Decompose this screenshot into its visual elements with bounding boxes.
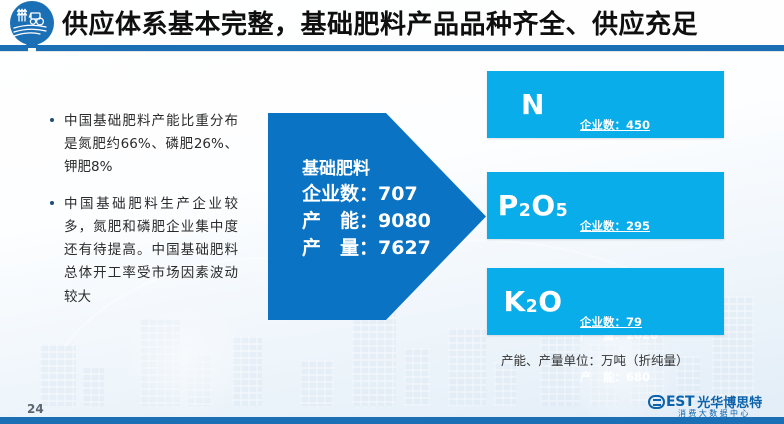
list-item: 中国基础肥料产能比重分布是氮肥约66%、磷肥26%、钾肥8% bbox=[48, 110, 238, 180]
best-logo-icon bbox=[648, 395, 665, 409]
arrow-output: 产 量：7627 bbox=[302, 235, 431, 262]
nutrient-card-n[interactable]: N 企业数：450 产 能：6050 产 量：4944 bbox=[487, 71, 724, 138]
brand-watermark: EST 光华博思特 消费大数据中心 bbox=[648, 392, 776, 418]
card-capacity: 产 能：680 bbox=[580, 368, 650, 386]
arrow-enterprises: 企业数：707 bbox=[302, 181, 431, 208]
header-divider-shadow bbox=[0, 51, 784, 52]
footer-bar bbox=[0, 417, 784, 424]
footnote: 产能、产量单位：万吨（折纯量） bbox=[501, 350, 689, 369]
page-title: 供应体系基本完整，基础肥料产品品种齐全、供应充足 bbox=[62, 4, 698, 41]
slide-header: 供应体系基本完整，基础肥料产品品种齐全、供应充足 bbox=[0, 0, 784, 50]
formula-label: N bbox=[487, 71, 579, 138]
list-item: 中国基础肥料生产企业较多，氮肥和磷肥企业集中度还有待提高。中国基础肥料总体开工率… bbox=[48, 193, 238, 309]
arrow-capacity: 产 能：9080 bbox=[302, 208, 431, 235]
summary-arrow: 基础肥料 企业数：707 产 能：9080 产 量：7627 bbox=[268, 113, 486, 320]
arrow-title: 基础肥料 bbox=[302, 158, 431, 181]
formula-label: K2O bbox=[487, 268, 579, 335]
nutrient-card-k2o[interactable]: K2O 企业数：79 产 能：680 产 量：612 bbox=[487, 268, 724, 335]
formula-label: P2O5 bbox=[487, 172, 579, 239]
arrow-text-block: 基础肥料 企业数：707 产 能：9080 产 量：7627 bbox=[302, 158, 431, 262]
card-enterprises: 企业数：450 bbox=[580, 116, 658, 134]
slide: 供应体系基本完整，基础肥料产品品种齐全、供应充足 中国基础肥料产能比重分布是氮肥… bbox=[0, 0, 784, 424]
pin-artwork-icon bbox=[8, 1, 52, 45]
card-enterprises: 企业数：295 bbox=[580, 217, 658, 235]
bullet-list: 中国基础肥料产能比重分布是氮肥约66%、磷肥26%、钾肥8% 中国基础肥料生产企… bbox=[48, 110, 238, 322]
card-enterprises: 企业数：79 bbox=[580, 313, 650, 331]
page-number: 24 bbox=[27, 402, 44, 416]
nutrient-card-p2o5[interactable]: P2O5 企业数：295 产 能：2350 产 量：2026 bbox=[487, 172, 724, 239]
